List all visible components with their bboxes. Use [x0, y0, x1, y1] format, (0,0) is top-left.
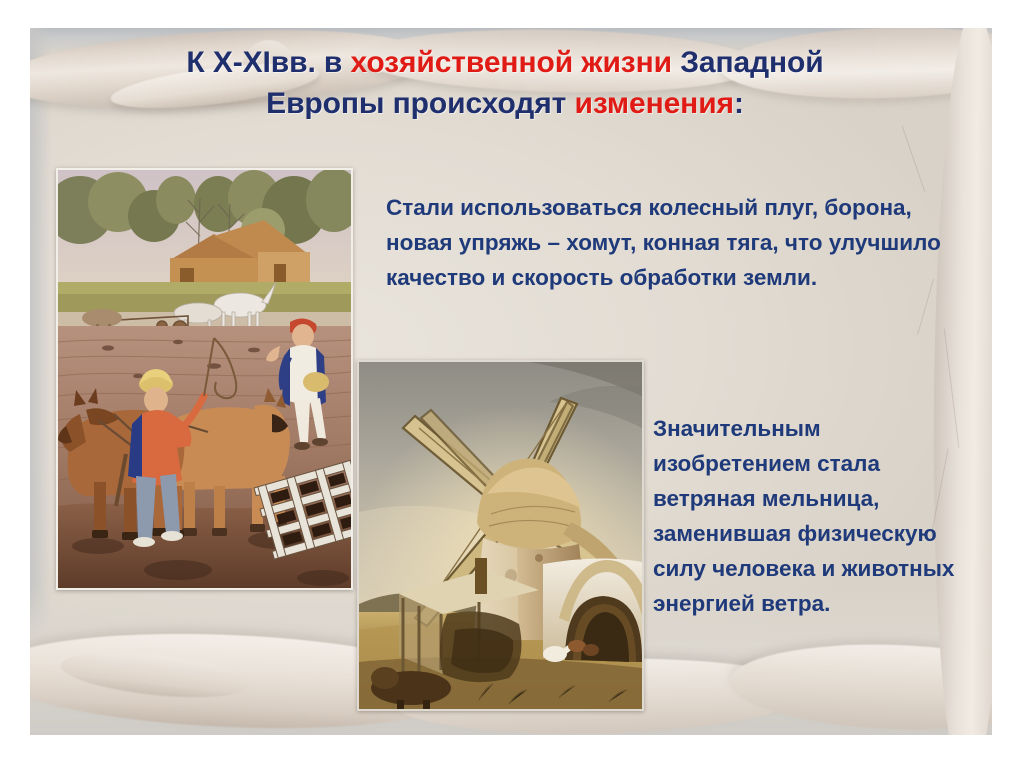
title-highlight-economic-life: хозяйственной жизни	[351, 46, 672, 79]
title-text-segment: :	[734, 87, 744, 120]
image-windmill	[357, 360, 644, 711]
text-block-windmill: Значительным изобретением стала ветряная…	[653, 411, 958, 621]
slide-root: К X-XIвв. в хозяйственной жизни Западной…	[0, 0, 1024, 767]
image-medieval-plowing	[56, 168, 353, 590]
medieval-plowing-illustration	[58, 170, 351, 588]
scroll-curl-right-edge	[930, 28, 992, 735]
title-line-2: Европы происходят изменения:	[110, 83, 900, 124]
parchment-crack	[902, 126, 926, 193]
title-text-segment: К X-XIвв. в	[186, 46, 350, 79]
title-highlight-changes: изменения	[574, 87, 733, 120]
text-plough-paragraph: Стали использоваться колесный плуг, боро…	[386, 190, 954, 295]
text-block-plough: Стали использоваться колесный плуг, боро…	[386, 190, 954, 295]
windmill-painting-illustration	[359, 362, 642, 709]
title-line-1: К X-XIвв. в хозяйственной жизни Западной	[110, 42, 900, 83]
text-windmill-paragraph: Значительным изобретением стала ветряная…	[653, 411, 958, 621]
slide-title: К X-XIвв. в хозяйственной жизни Западной…	[110, 42, 900, 124]
title-text-segment: Европы происходят	[266, 87, 574, 120]
title-text-segment: Западной	[672, 46, 824, 79]
